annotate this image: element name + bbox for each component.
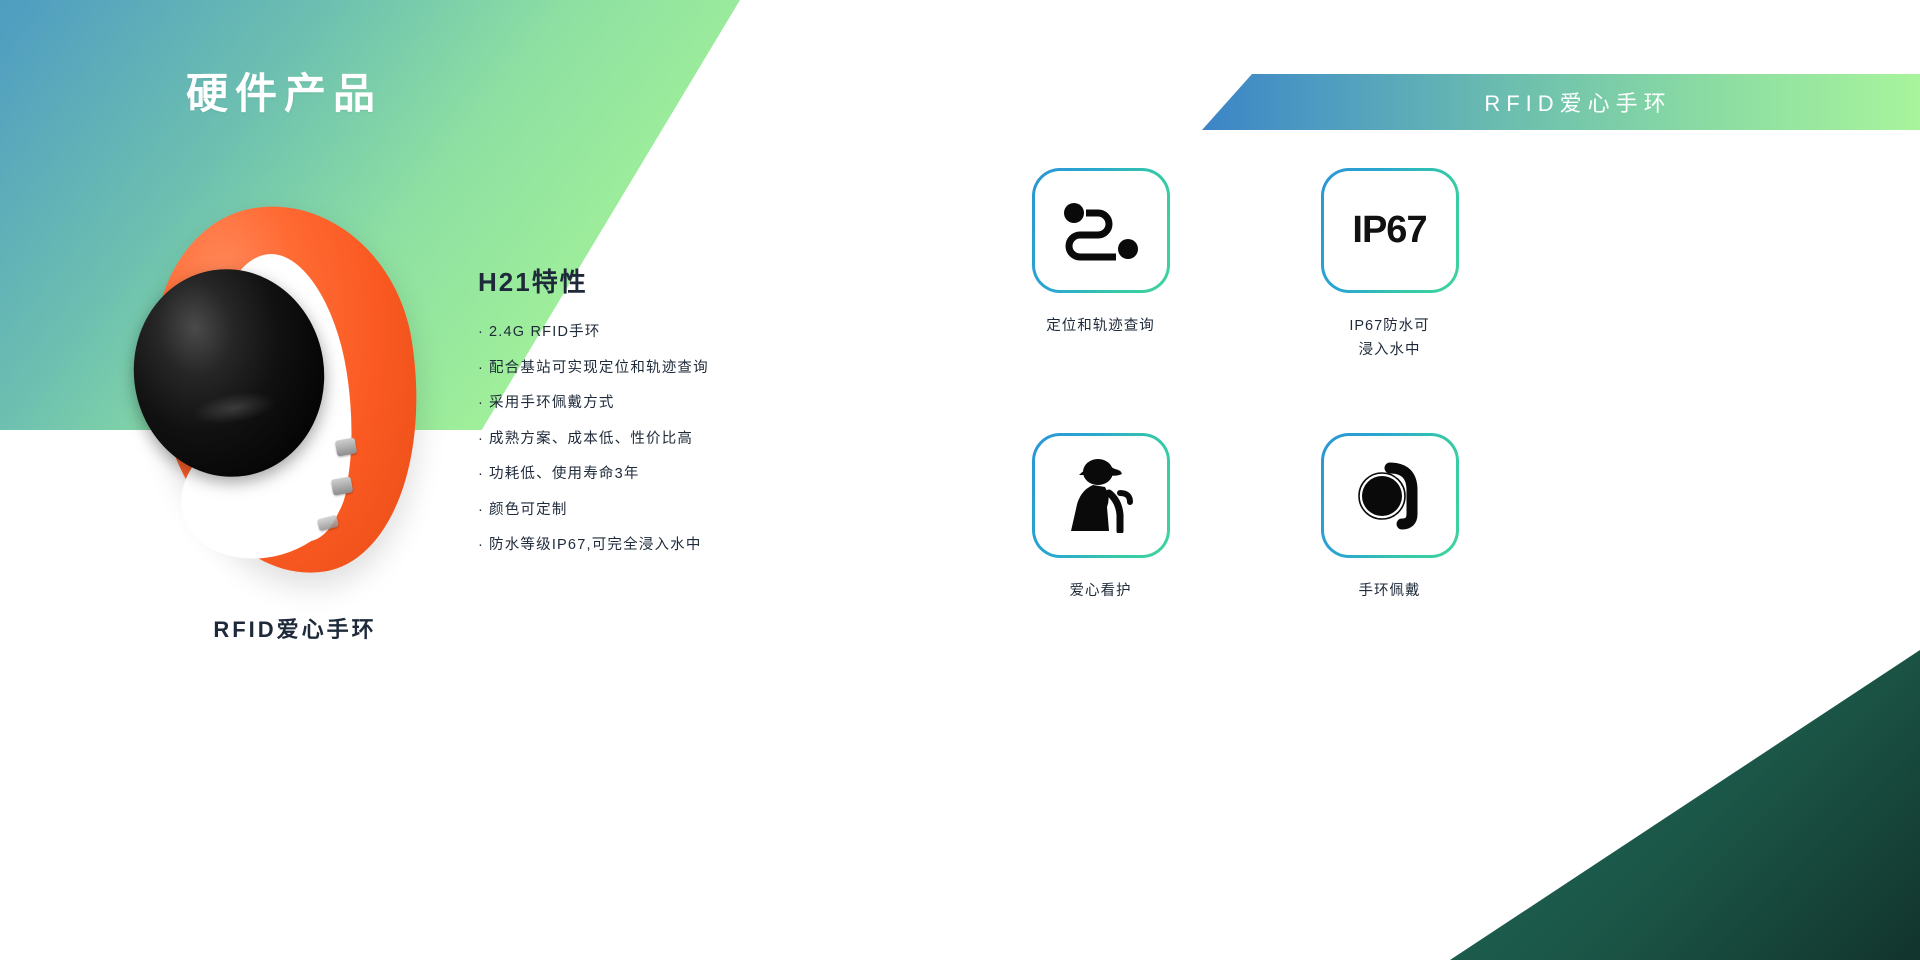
feature-card-label: 定位和轨迹查询 — [1046, 315, 1155, 339]
product-caption: RFID爱心手环 — [120, 612, 470, 644]
page-title: 硬件产品 — [186, 60, 382, 121]
feature-card-frame — [1032, 168, 1170, 293]
bullet-icon: · — [478, 396, 484, 411]
section-ribbon-title: RFID爱心手环 — [1450, 86, 1671, 118]
feature-list-item-text: 功耗低、使用寿命3年 — [489, 466, 640, 482]
feature-card[interactable]: 手环佩戴 — [1309, 433, 1470, 604]
feature-card[interactable]: IP67 IP67防水可浸入水中 — [1309, 168, 1470, 363]
strap-notch-icon — [335, 437, 357, 456]
feature-list-item-text: 颜色可定制 — [489, 502, 568, 518]
feature-list-item: ·成熟方案、成本低、性价比高 — [478, 432, 709, 447]
feature-list-item: ·防水等级IP67,可完全浸入水中 — [478, 538, 709, 553]
feature-card-grid: 定位和轨迹查询 IP67 IP67防水可浸入水中 — [1020, 168, 1540, 604]
bullet-icon: · — [478, 467, 484, 482]
bullet-icon: · — [478, 325, 484, 340]
feature-card-label: 手环佩戴 — [1359, 580, 1421, 604]
ip67-rating-icon: IP67 — [1352, 209, 1426, 252]
feature-card-frame: IP67 — [1321, 168, 1459, 293]
feature-card-face — [1324, 436, 1456, 555]
feature-list-item: ·2.4G RFID手环 — [478, 325, 709, 340]
elderly-person-icon — [1065, 457, 1137, 533]
bullet-icon: · — [478, 432, 484, 447]
feature-list-item-text: 采用手环佩戴方式 — [489, 395, 615, 411]
bullet-icon: · — [478, 538, 484, 553]
bullet-icon: · — [478, 503, 484, 518]
bullet-icon: · — [478, 361, 484, 376]
feature-card[interactable]: 爱心看护 — [1020, 433, 1181, 604]
feature-card-label: 爱心看护 — [1070, 580, 1132, 604]
feature-card-face — [1035, 171, 1167, 290]
track-path-icon — [1062, 201, 1140, 261]
feature-card-frame — [1321, 433, 1459, 558]
feature-card-face: IP67 — [1324, 171, 1456, 290]
feature-list-item-text: 2.4G RFID手环 — [489, 324, 601, 340]
dark-green-corner-triangle — [1450, 650, 1920, 960]
feature-card-frame — [1032, 433, 1170, 558]
section-ribbon: RFID爱心手环 — [1202, 74, 1920, 130]
feature-list-item-text: 防水等级IP67,可完全浸入水中 — [489, 537, 702, 553]
strap-notch-icon — [331, 476, 353, 495]
wristband-wear-icon — [1353, 458, 1427, 532]
feature-list-item: ·采用手环佩戴方式 — [478, 396, 709, 411]
feature-list: ·2.4G RFID手环 ·配合基站可实现定位和轨迹查询 ·采用手环佩戴方式 ·… — [478, 325, 709, 553]
product-image — [120, 195, 470, 595]
feature-card-label: IP67防水可浸入水中 — [1349, 315, 1429, 363]
feature-section: H21特性 ·2.4G RFID手环 ·配合基站可实现定位和轨迹查询 ·采用手环… — [478, 262, 709, 574]
feature-list-item-text: 配合基站可实现定位和轨迹查询 — [489, 360, 709, 376]
feature-card-face — [1035, 436, 1167, 555]
feature-list-item-text: 成熟方案、成本低、性价比高 — [489, 431, 693, 447]
feature-card[interactable]: 定位和轨迹查询 — [1020, 168, 1181, 363]
feature-list-item: ·配合基站可实现定位和轨迹查询 — [478, 361, 709, 376]
feature-heading: H21特性 — [478, 262, 709, 299]
feature-list-item: ·颜色可定制 — [478, 503, 709, 518]
feature-list-item: ·功耗低、使用寿命3年 — [478, 467, 709, 482]
